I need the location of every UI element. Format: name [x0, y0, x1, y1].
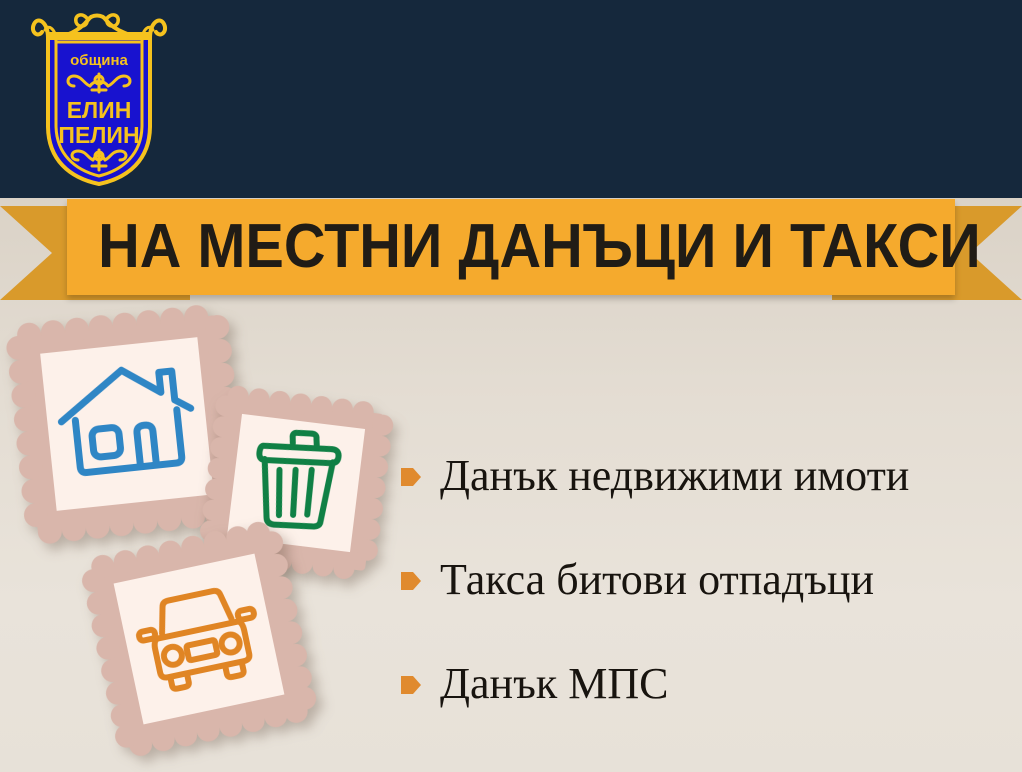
arrow-bullet-icon: [400, 568, 422, 594]
arrow-bullet-icon: [400, 464, 422, 490]
list-item-label: Такса битови отпадъци: [440, 557, 874, 603]
arrow-bullet-icon: [400, 672, 422, 698]
services-list: Данък недвижими имоти Такса битови отпад…: [400, 424, 1015, 736]
list-item[interactable]: Данък недвижими имоти: [400, 424, 1015, 528]
crest-name-line1: ЕЛИН: [67, 97, 132, 123]
list-item-label: Данък недвижими имоти: [440, 453, 909, 499]
ribbon-band: НА МЕСТНИ ДАНЪЦИ И ТАКСИ: [67, 199, 955, 295]
list-item[interactable]: Такса битови отпадъци: [400, 528, 1015, 632]
ribbon-label: НА МЕСТНИ ДАНЪЦИ И ТАКСИ: [98, 199, 924, 295]
ribbon-banner: НА МЕСТНИ ДАНЪЦИ И ТАКСИ: [0, 198, 1022, 304]
list-item-label: Данък МПС: [440, 661, 668, 707]
list-item[interactable]: Данък МПС: [400, 632, 1015, 736]
stamp-card-vehicle: [77, 517, 321, 761]
municipality-crest-logo: община ЕЛИН ПЕЛИН: [26, 8, 172, 190]
poster-canvas: ПРОВЕРКА И ПЛАЩАНЕ НА ЗАДЪЛЖЕНИЯ община: [0, 0, 1022, 772]
crest-municipality-label: община: [70, 52, 128, 69]
crest-name-line2: ПЕЛИН: [58, 122, 139, 148]
